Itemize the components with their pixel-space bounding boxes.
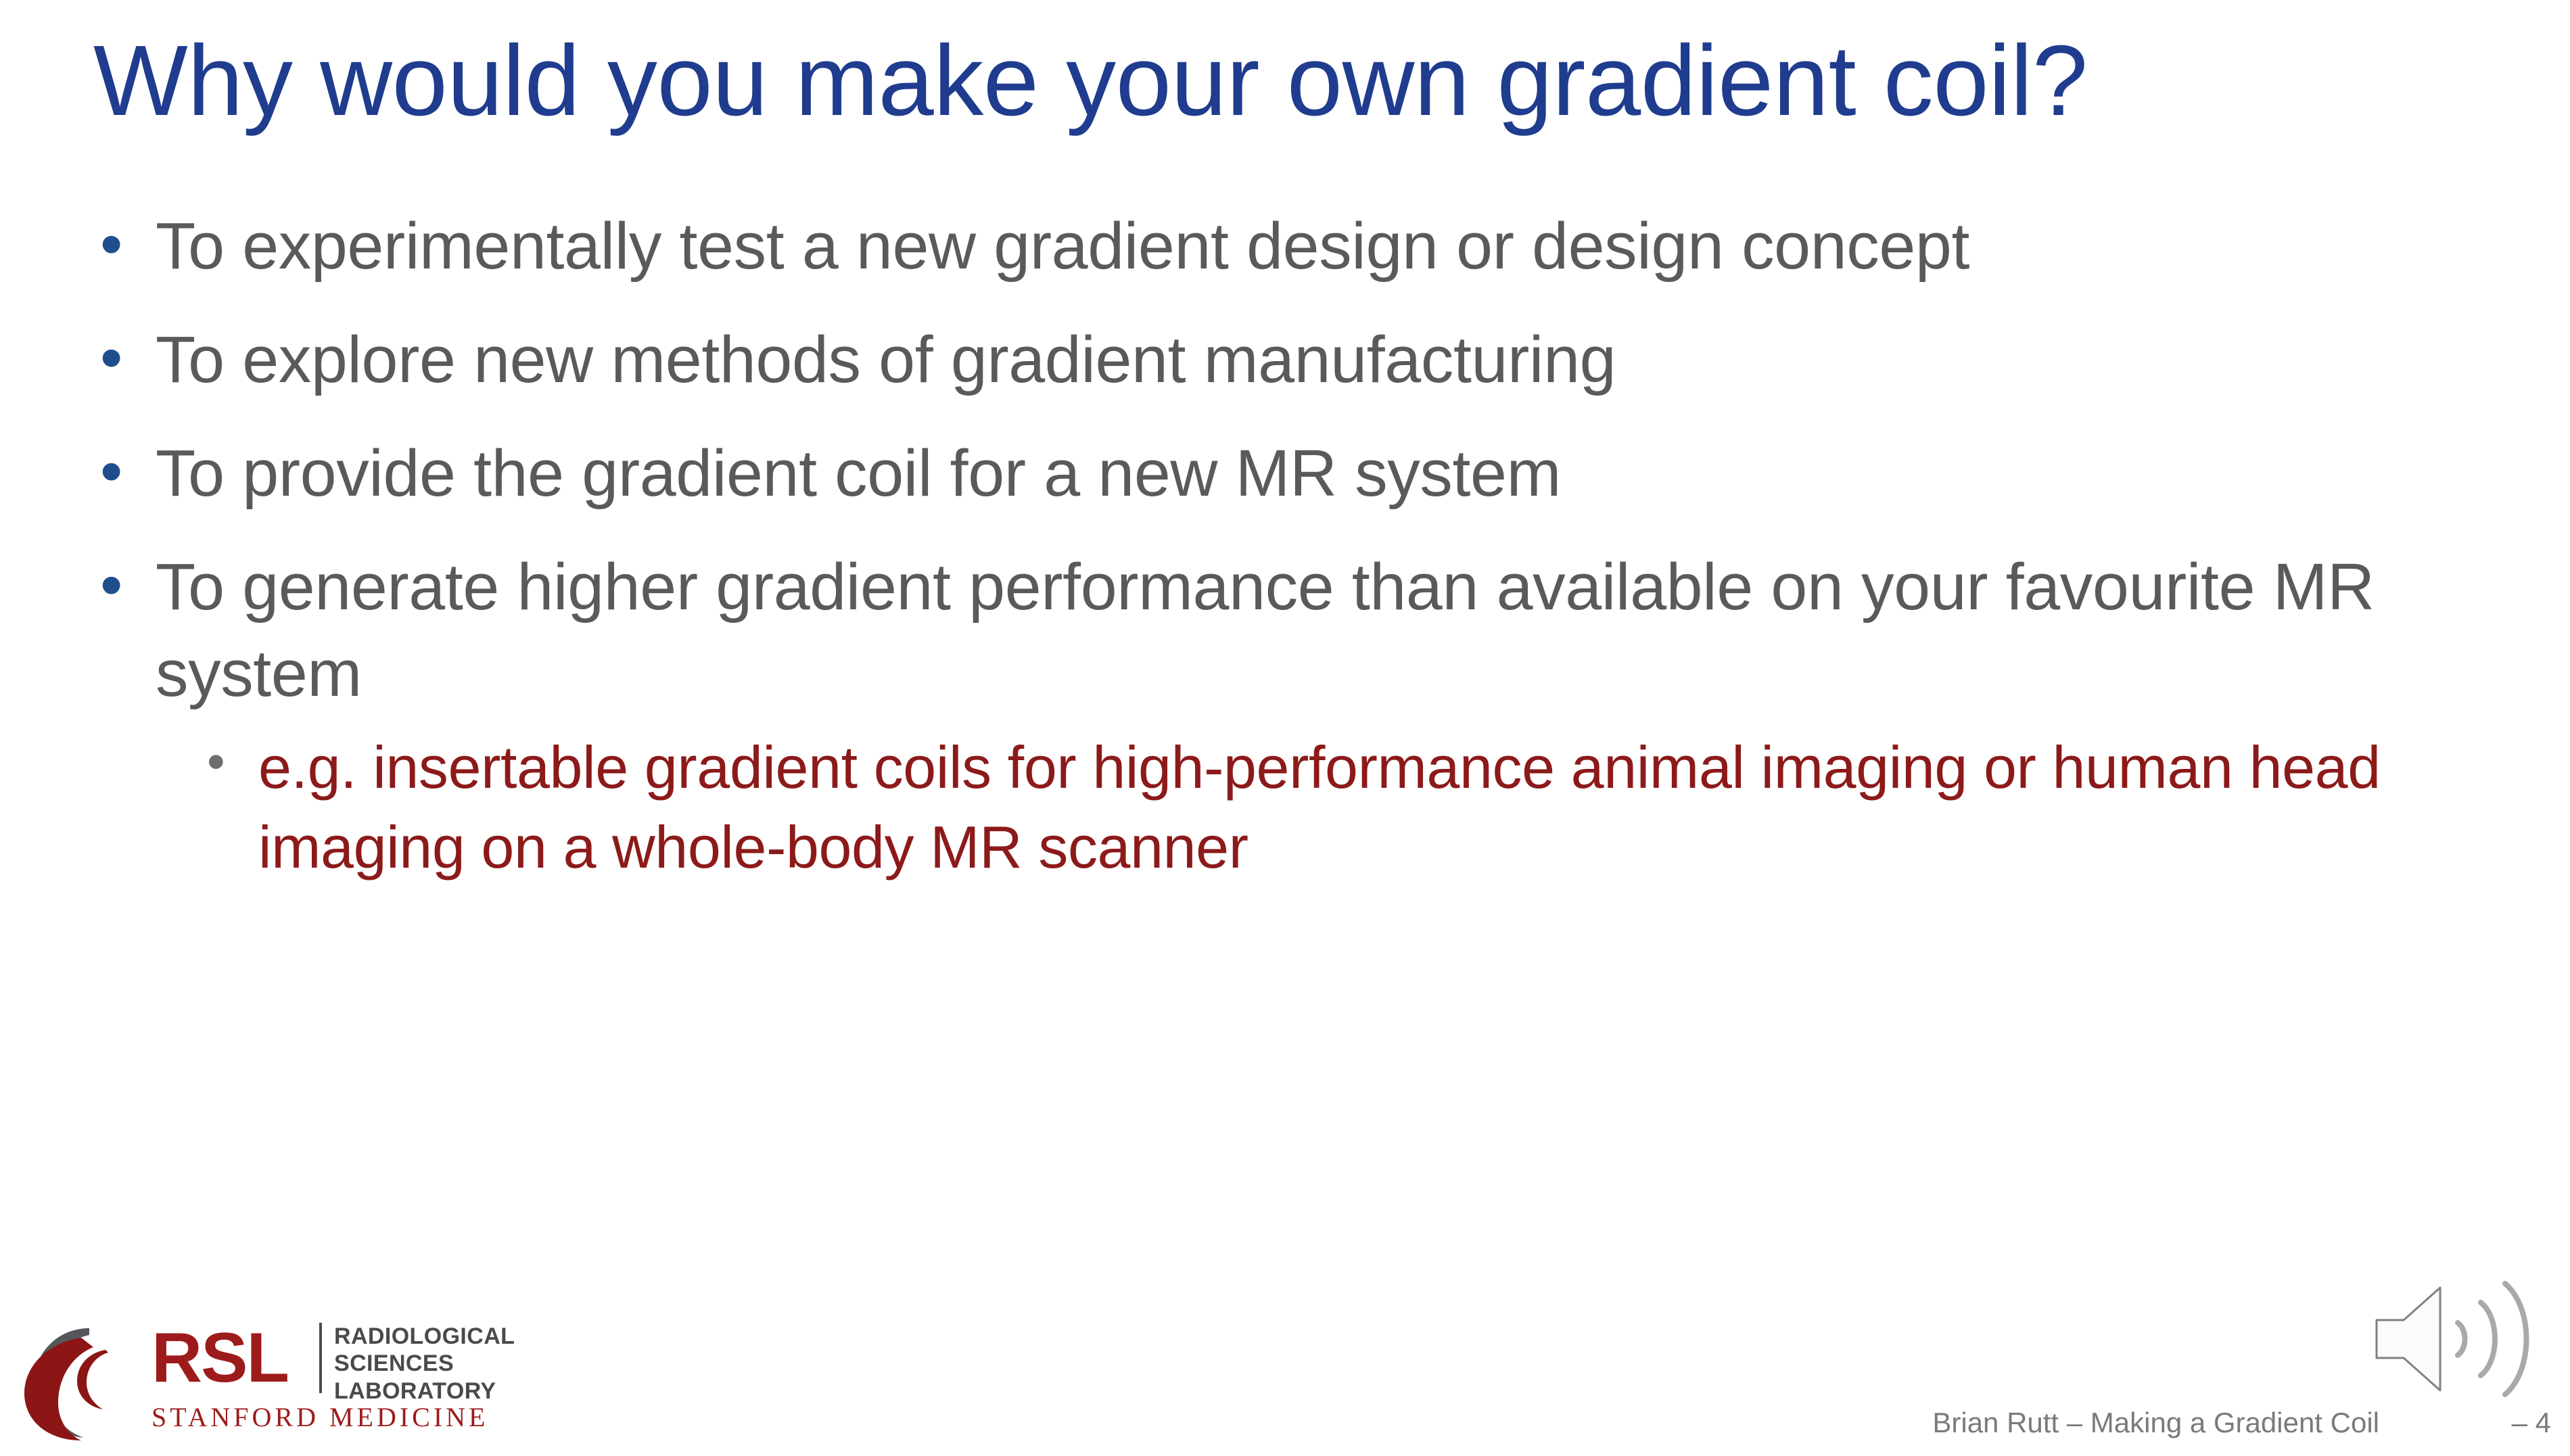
sub-bullet-text: e.g. insertable gradient coils for high-… <box>258 728 2516 887</box>
bullet-dot-icon: • <box>81 544 156 628</box>
sub-list-item: • e.g. insertable gradient coils for hig… <box>196 728 2516 887</box>
logo-lab-name: RADIOLOGICAL SCIENCES LABORATORY <box>334 1323 515 1405</box>
logo-lab-line-1: RADIOLOGICAL <box>334 1323 515 1350</box>
logo-acronym: RSL <box>151 1323 288 1393</box>
bullet-dot-icon: • <box>81 430 156 514</box>
list-item: • To explore new methods of gradient man… <box>81 316 2516 403</box>
list-item-group: • To generate higher gradient performanc… <box>81 544 2516 887</box>
sub-bullet-dot-icon: • <box>196 728 258 797</box>
rsl-swirl-icon <box>19 1323 147 1442</box>
list-item: • To provide the gradient coil for a new… <box>81 430 2516 517</box>
page-title: Why would you make your own gradient coi… <box>93 27 2501 135</box>
footer-credit: Brian Rutt – Making a Gradient Coil <box>1932 1409 2379 1437</box>
bullet-text: To experimentally test a new gradient de… <box>156 203 2516 289</box>
footer-page-number: – 4 <box>2512 1409 2551 1437</box>
sub-bullet-list: • e.g. insertable gradient coils for hig… <box>196 728 2516 887</box>
logo-divider <box>319 1323 322 1393</box>
bullet-dot-icon: • <box>81 316 156 400</box>
logo-lab-line-3: LABORATORY <box>334 1378 515 1405</box>
speaker-icon[interactable] <box>2360 1278 2563 1400</box>
logo-lab-line-2: SCIENCES <box>334 1350 515 1377</box>
bullet-text: To provide the gradient coil for a new M… <box>156 430 2516 517</box>
list-item: • To experimentally test a new gradient … <box>81 203 2516 289</box>
logo-wordmark: STANFORD MEDICINE <box>151 1404 488 1431</box>
bullet-text: To generate higher gradient performance … <box>156 544 2516 717</box>
bullet-text: To explore new methods of gradient manuf… <box>156 316 2516 403</box>
slide-canvas: Why would you make your own gradient coi… <box>0 0 2570 1456</box>
bullet-dot-icon: • <box>81 203 156 287</box>
rsl-stanford-logo: RSL RADIOLOGICAL SCIENCES LABORATORY STA… <box>19 1319 574 1447</box>
list-item: • To generate higher gradient performanc… <box>81 544 2516 717</box>
bullet-list: • To experimentally test a new gradient … <box>81 203 2516 887</box>
